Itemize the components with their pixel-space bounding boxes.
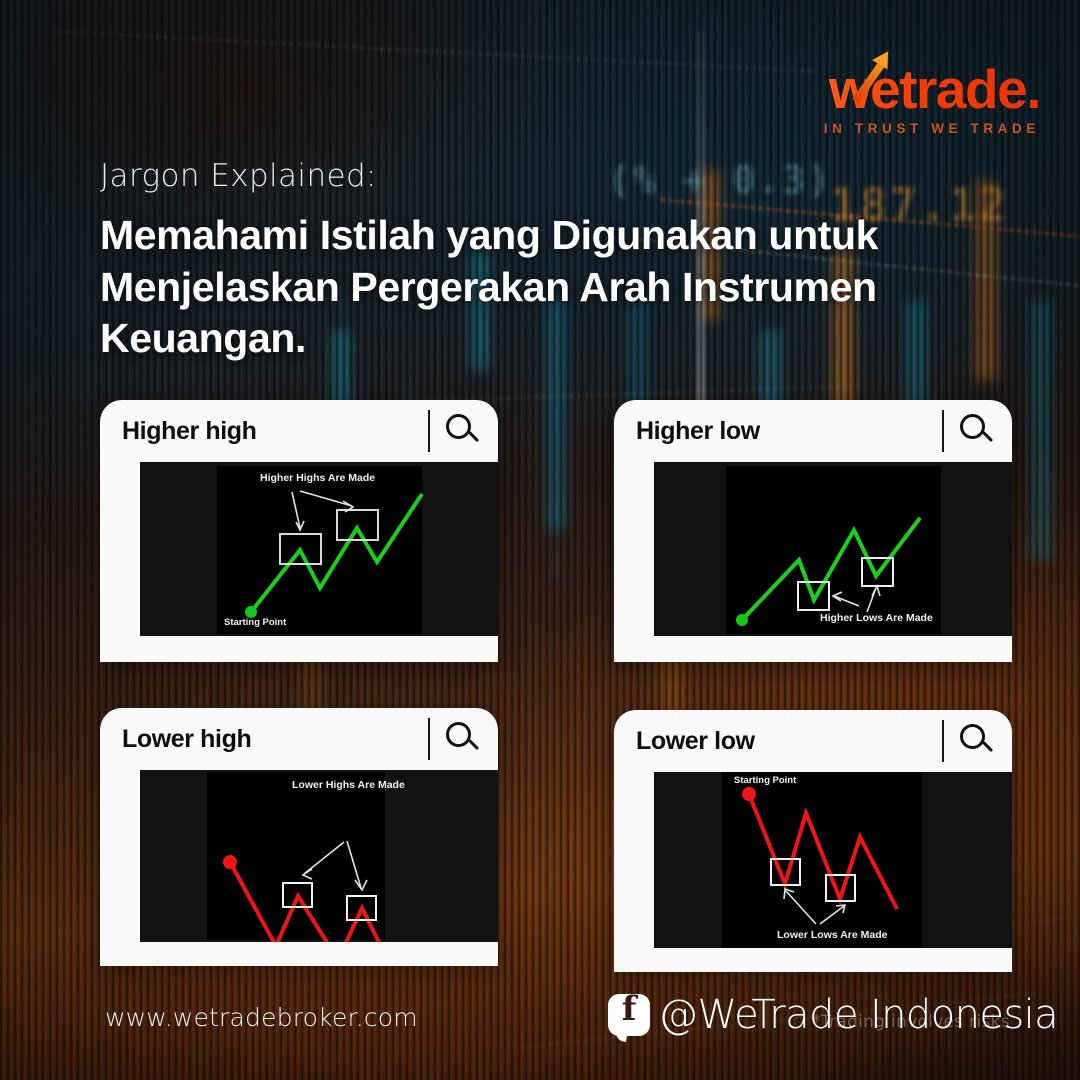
eyebrow-text: Jargon Explained: [100, 158, 970, 194]
search-icon[interactable] [446, 414, 480, 448]
chart-line-higher-high [140, 462, 498, 636]
logo-wordmark: wetrade. [829, 62, 1040, 117]
chart-annotation: Higher Lows Are Made [820, 612, 933, 624]
card-higher-high[interactable]: Higher high Higher Highs Are Made Starti… [100, 400, 498, 662]
card-header: Higher low [614, 400, 1012, 462]
card-lower-low[interactable]: Lower low Starting Point Lower Lows Are … [614, 710, 1012, 972]
card-chart-panel: Starting Point Lower Lows Are Made [654, 772, 1012, 948]
header-divider [428, 718, 430, 760]
card-header-actions [942, 720, 994, 762]
card-header: Higher high [100, 400, 498, 462]
brand-logo: wetrade. IN TRUST WE TRADE [824, 62, 1040, 136]
card-title: Higher low [636, 417, 760, 446]
card-header-actions [428, 718, 480, 760]
card-chart-panel: Lower Highs Are Made [140, 770, 498, 942]
chart-annotation: Higher Highs Are Made [260, 472, 375, 484]
chart-line-lower-high [140, 770, 498, 942]
search-icon[interactable] [960, 414, 994, 448]
search-icon[interactable] [446, 722, 480, 756]
card-header: Lower low [614, 710, 1012, 772]
header-divider [942, 720, 944, 762]
facebook-icon[interactable] [608, 994, 650, 1036]
card-higher-low[interactable]: Higher low Higher Lows Are Made [614, 400, 1012, 662]
card-header-actions [428, 410, 480, 452]
header-divider [942, 410, 944, 452]
card-chart-panel: Higher Lows Are Made [654, 462, 1012, 636]
footer-website[interactable]: www.wetradebroker.com [105, 1003, 418, 1032]
logo-tagline: IN TRUST WE TRADE [824, 121, 1040, 136]
card-header: Lower high [100, 708, 498, 770]
risk-disclaimer: *Trading involves risks [812, 1012, 1010, 1032]
header-block: Jargon Explained: Memahami Istilah yang … [100, 158, 970, 365]
card-lower-high[interactable]: Lower high Lower Highs Are Made [100, 708, 498, 966]
page-title: Memahami Istilah yang Digunakan untuk Me… [100, 210, 970, 365]
chart-annotation: Lower Highs Are Made [292, 779, 405, 791]
chart-line-higher-low [654, 462, 1012, 636]
card-title: Lower high [122, 725, 251, 754]
card-title: Higher high [122, 417, 256, 446]
header-divider [428, 410, 430, 452]
card-title: Lower low [636, 727, 755, 756]
chart-line-lower-low [654, 772, 1012, 948]
chart-start-label: Starting Point [224, 617, 286, 628]
card-chart-panel: Higher Highs Are Made Starting Point [140, 462, 498, 636]
card-header-actions [942, 410, 994, 452]
chart-annotation: Lower Lows Are Made [777, 929, 887, 941]
search-icon[interactable] [960, 724, 994, 758]
chart-start-label: Starting Point [734, 775, 796, 786]
